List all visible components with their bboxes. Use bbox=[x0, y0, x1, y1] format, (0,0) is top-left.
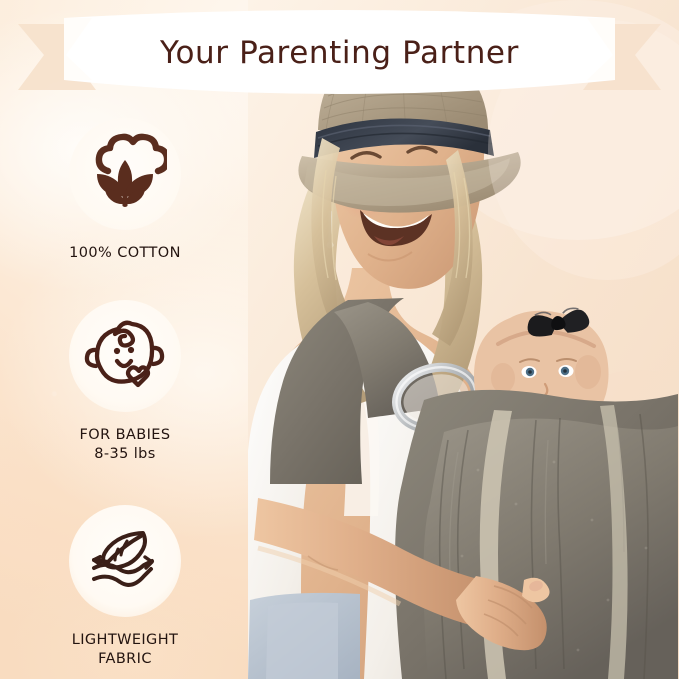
feature-disc bbox=[69, 505, 181, 617]
feature-item-cotton: 100% COTTON bbox=[0, 118, 250, 263]
feature-label-line1: FOR BABIES bbox=[80, 427, 171, 443]
feature-disc bbox=[69, 300, 181, 412]
feature-caption: 100% COTTON bbox=[0, 244, 250, 263]
feature-caption: FOR BABIES 8-35 lbs bbox=[0, 426, 250, 464]
feature-label-line2: 8-35 lbs bbox=[0, 445, 250, 464]
feature-label-line1: 100% COTTON bbox=[69, 245, 181, 261]
feature-item-lightweight: LIGHTWEIGHT FABRIC bbox=[0, 505, 250, 669]
feature-caption: LIGHTWEIGHT FABRIC bbox=[0, 631, 250, 669]
cotton-boll-icon bbox=[83, 132, 167, 216]
product-feature-image: Your Parenting Partner bbox=[0, 0, 679, 679]
feature-list: 100% COTTON bbox=[0, 0, 250, 679]
feature-item-babies: FOR BABIES 8-35 lbs bbox=[0, 300, 250, 464]
baby-face-heart-icon bbox=[83, 314, 167, 398]
feature-label-line1: LIGHTWEIGHT bbox=[72, 632, 179, 648]
feather-fabric-icon bbox=[83, 519, 167, 603]
feature-label-line2: FABRIC bbox=[0, 650, 250, 669]
feature-disc bbox=[69, 118, 181, 230]
